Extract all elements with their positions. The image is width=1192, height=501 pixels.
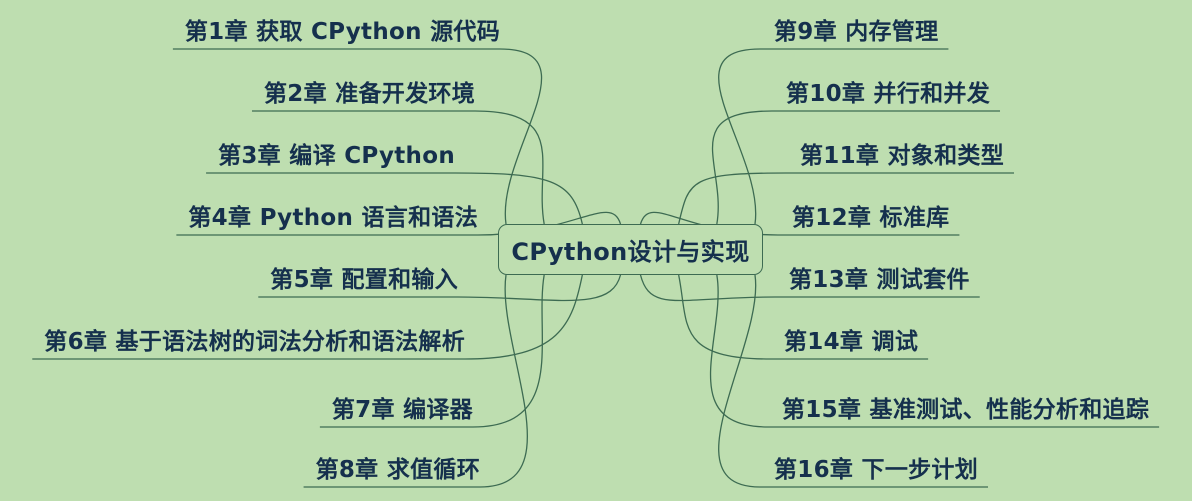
branch-label-left-7[interactable]: 第7章 编译器: [332, 399, 473, 422]
branch-label-left-8[interactable]: 第8章 求值循环: [316, 459, 480, 482]
branch-label-right-2[interactable]: 第10章 并行和并发: [786, 83, 990, 106]
branch-label-right-5[interactable]: 第13章 测试套件: [789, 269, 970, 292]
branch-label-right-3[interactable]: 第11章 对象和类型: [800, 145, 1004, 168]
branch-connector-left-1: [173, 49, 542, 224]
branch-label-right-1[interactable]: 第9章 内存管理: [774, 21, 938, 44]
branch-connector-left-8: [304, 275, 528, 487]
branch-label-left-3[interactable]: 第3章 编译 CPython: [218, 145, 455, 168]
branch-connector-right-8: [719, 275, 988, 487]
branch-label-left-5[interactable]: 第5章 配置和输入: [270, 269, 458, 292]
mindmap-canvas: 第1章 获取 CPython 源代码第2章 准备开发环境第3章 编译 CPyth…: [0, 0, 1192, 501]
branch-label-left-4[interactable]: 第4章 Python 语言和语法: [188, 207, 478, 230]
branch-label-left-2[interactable]: 第2章 准备开发环境: [264, 83, 475, 106]
branch-label-right-8[interactable]: 第16章 下一步计划: [774, 459, 978, 482]
branch-label-right-4[interactable]: 第12章 标准库: [792, 207, 949, 230]
branch-label-left-6[interactable]: 第6章 基于语法树的词法分析和语法解析: [44, 331, 465, 354]
branch-label-left-1[interactable]: 第1章 获取 CPython 源代码: [185, 21, 500, 44]
branch-label-right-7[interactable]: 第15章 基准测试、性能分析和追踪: [782, 399, 1149, 422]
branch-label-right-6[interactable]: 第14章 调试: [784, 331, 918, 354]
center-node[interactable]: CPython设计与实现: [498, 224, 763, 275]
branch-connector-right-1: [719, 49, 949, 224]
center-node-title: CPython设计与实现: [511, 232, 749, 267]
